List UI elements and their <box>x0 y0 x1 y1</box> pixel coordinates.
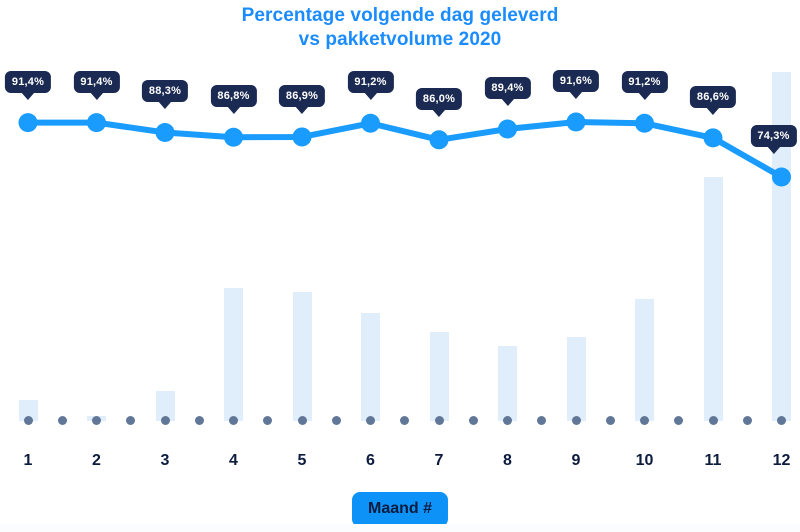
x-axis-tick: 6 <box>366 452 375 470</box>
x-axis-tick: 10 <box>636 452 654 470</box>
line-marker[interactable] <box>498 119 517 138</box>
x-axis-tick: 4 <box>229 452 238 470</box>
x-axis-tick: 8 <box>503 452 512 470</box>
x-axis-tick: 9 <box>572 452 581 470</box>
value-label: 91,2% <box>621 71 667 93</box>
line-marker[interactable] <box>772 168 791 187</box>
line-marker[interactable] <box>361 114 380 133</box>
x-axis-tick: 5 <box>298 452 307 470</box>
x-axis-ticks: 123456789101112 <box>0 452 800 482</box>
line-marker[interactable] <box>567 113 586 132</box>
x-axis-title-button[interactable]: Maand # <box>352 492 448 527</box>
value-label: 74,3% <box>750 125 796 147</box>
line-marker[interactable] <box>224 128 243 147</box>
value-label: 86,8% <box>210 85 256 107</box>
value-label: 86,0% <box>416 88 462 110</box>
line-marker[interactable] <box>19 113 38 132</box>
x-axis-tick: 12 <box>773 452 791 470</box>
value-label: 86,6% <box>690 86 736 108</box>
line-path <box>28 122 782 177</box>
value-label: 88,3% <box>142 80 188 102</box>
value-label: 86,9% <box>279 85 325 107</box>
line-marker[interactable] <box>704 128 723 147</box>
x-axis-tick: 3 <box>161 452 170 470</box>
value-label: 91,4% <box>73 71 119 93</box>
line-marker[interactable] <box>293 127 312 146</box>
value-label: 91,4% <box>5 71 51 93</box>
x-axis-tick: 7 <box>435 452 444 470</box>
line-series-percentage <box>0 0 800 440</box>
x-axis-tick: 11 <box>705 452 722 470</box>
line-marker[interactable] <box>430 130 449 149</box>
value-label: 89,4% <box>484 77 530 99</box>
plot-area: 91,4%91,4%88,3%86,8%86,9%91,2%86,0%89,4%… <box>0 0 800 440</box>
bottom-strip <box>0 524 800 532</box>
line-markers <box>19 113 792 187</box>
value-label: 91,6% <box>553 70 599 92</box>
chart-container: Percentage volgende dag geleverd vs pakk… <box>0 0 800 532</box>
line-marker[interactable] <box>156 123 175 142</box>
x-axis-tick: 1 <box>24 452 33 470</box>
value-label: 91,2% <box>347 71 393 93</box>
line-marker[interactable] <box>635 114 654 133</box>
line-marker[interactable] <box>87 113 106 132</box>
x-axis-tick: 2 <box>92 452 101 470</box>
